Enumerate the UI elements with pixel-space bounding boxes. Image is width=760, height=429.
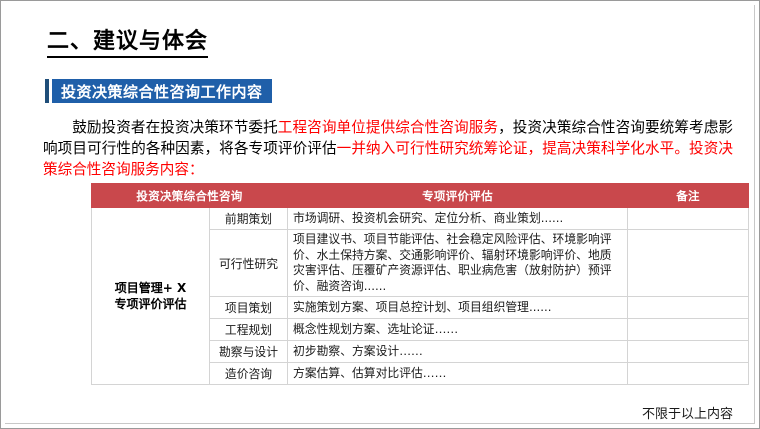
category-line-1: 项目管理+ X xyxy=(97,280,204,296)
cell-detail: 初步勘察、方案设计…… xyxy=(288,341,628,363)
cell-remark xyxy=(628,341,749,363)
cell-stage: 项目策划 xyxy=(210,297,288,319)
table-header-row: 投资决策综合性咨询 专项评价评估 备注 xyxy=(92,184,749,208)
cell-detail: 实施策划方案、项目总控计划、项目组织管理...... xyxy=(288,297,628,319)
cell-stage: 可行性研究 xyxy=(210,230,288,297)
slide-canvas: 二、建议与体会 投资决策综合性咨询工作内容 鼓励投资者在投资决策环节委托工程咨询… xyxy=(0,0,760,429)
cell-remark xyxy=(628,319,749,341)
cell-remark xyxy=(628,208,749,230)
consulting-services-table: 投资决策综合性咨询 专项评价评估 备注 项目管理+ X 专项评价评估 前期策划 … xyxy=(91,183,749,385)
paragraph-segment-red-1: 工程咨询单位提供综合性咨询服务 xyxy=(278,119,498,136)
cell-stage: 勘察与设计 xyxy=(210,341,288,363)
table-header-col-evaluation: 专项评价评估 xyxy=(288,184,628,208)
table-header-col-consulting: 投资决策综合性咨询 xyxy=(92,184,288,208)
table-header-col-remarks: 备注 xyxy=(628,184,749,208)
page-title: 二、建议与体会 xyxy=(47,29,208,58)
cell-remark xyxy=(628,297,749,319)
body-paragraph: 鼓励投资者在投资决策环节委托工程咨询单位提供综合性咨询服务，投资决策综合性咨询要… xyxy=(43,117,733,180)
cell-remark xyxy=(628,363,749,385)
banner-label: 投资决策综合性咨询工作内容 xyxy=(52,79,272,103)
cell-stage: 造价咨询 xyxy=(210,363,288,385)
cell-detail: 项目建议书、项目节能评估、社会稳定风险评估、环境影响评价、水土保持方案、交通影响… xyxy=(288,230,628,297)
paragraph-segment-black-1: 鼓励投资者在投资决策环节委托 xyxy=(72,119,278,136)
slide-content-area: 二、建议与体会 投资决策综合性咨询工作内容 鼓励投资者在投资决策环节委托工程咨询… xyxy=(5,5,755,424)
cell-stage: 前期策划 xyxy=(210,208,288,230)
cell-detail: 市场调研、投资机会研究、定位分析、商业策划...... xyxy=(288,208,628,230)
cell-detail: 方案估算、估算对比评估…… xyxy=(288,363,628,385)
cell-stage: 工程规划 xyxy=(210,319,288,341)
section-banner: 投资决策综合性咨询工作内容 xyxy=(45,79,272,103)
cell-category: 项目管理+ X 专项评价评估 xyxy=(92,208,210,385)
table-row: 项目管理+ X 专项评价评估 前期策划 市场调研、投资机会研究、定位分析、商业策… xyxy=(92,208,749,230)
cell-remark xyxy=(628,230,749,297)
cell-detail: 概念性规划方案、选址论证…… xyxy=(288,319,628,341)
category-line-2: 专项评价评估 xyxy=(97,296,204,312)
footer-note: 不限于以上内容 xyxy=(642,403,733,422)
